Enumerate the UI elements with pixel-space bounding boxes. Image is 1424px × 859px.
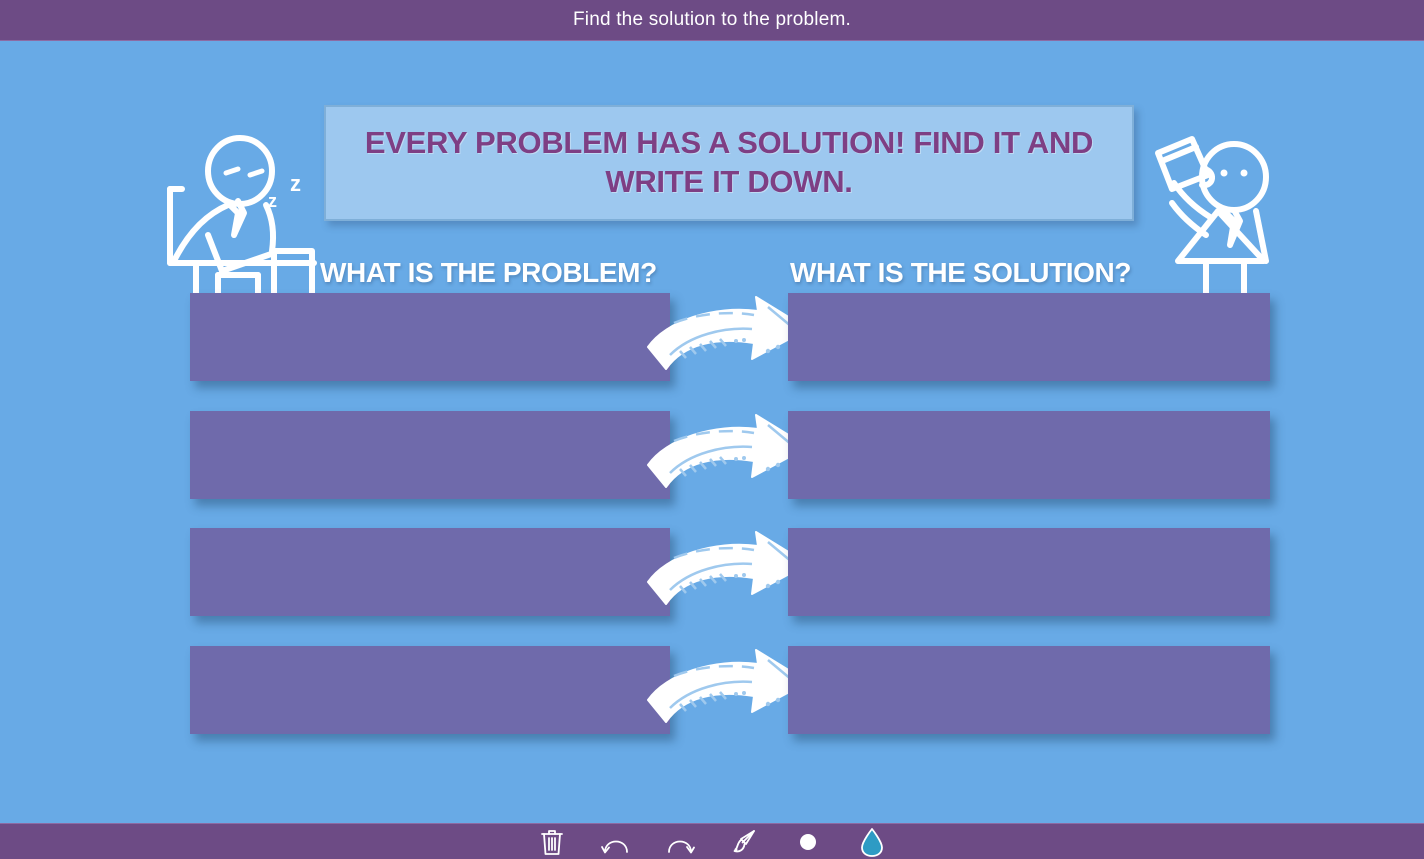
column-heading-solution: WHAT IS THE SOLUTION? [790,257,1131,289]
redo-icon[interactable] [661,825,699,859]
water-drop-color-icon[interactable] [853,825,891,859]
sleep-zzz-icon: z z [262,169,322,219]
svg-text:z: z [290,171,301,196]
worksheet-row [0,411,1424,503]
solution-box-4[interactable] [788,646,1270,734]
solution-box-1[interactable] [788,293,1270,381]
problem-box-4[interactable] [190,646,670,734]
problem-box-2[interactable] [190,411,670,499]
solution-box-2[interactable] [788,411,1270,499]
problem-box-3[interactable] [190,528,670,616]
problem-box-1[interactable] [190,293,670,381]
drawing-canvas[interactable]: z z [0,41,1424,823]
worksheet-row [0,646,1424,738]
instruction-banner-text: EVERY PROBLEM HAS A SOLUTION! FIND IT AN… [352,124,1106,202]
header-bar: Find the solution to the problem. [0,0,1424,41]
svg-text:z: z [268,191,277,211]
instruction-banner: EVERY PROBLEM HAS A SOLUTION! FIND IT AN… [324,105,1134,221]
solution-box-3[interactable] [788,528,1270,616]
brush-size-swatch [800,834,816,850]
trash-icon[interactable] [533,825,571,859]
whiteboard-app: Find the solution to the problem. [0,0,1424,859]
brush-icon[interactable] [725,825,763,859]
worksheet-row [0,528,1424,620]
bottom-toolbar [0,823,1424,859]
column-heading-problem: WHAT IS THE PROBLEM? [320,257,657,289]
page-title: Find the solution to the problem. [573,9,851,31]
brush-size-dot-icon[interactable] [789,825,827,859]
undo-icon[interactable] [597,825,635,859]
worksheet-row [0,293,1424,385]
